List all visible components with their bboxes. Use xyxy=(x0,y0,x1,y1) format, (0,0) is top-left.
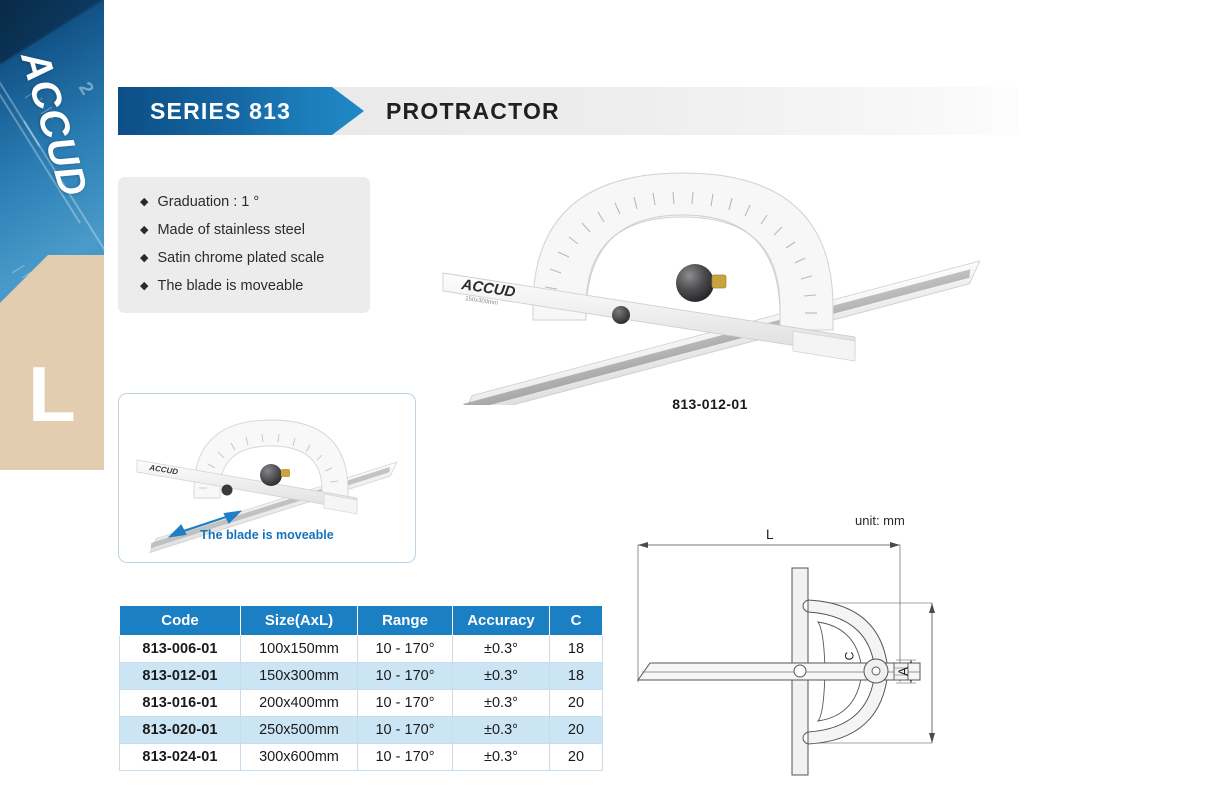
brass-screw xyxy=(712,275,726,288)
feature-item: ◆ The blade is moveable xyxy=(140,275,370,297)
rail-ruler-number: 2 xyxy=(73,79,97,100)
cell-range: 10 - 170° xyxy=(358,636,453,663)
table-row: 813-020-01 250x500mm 10 - 170° ±0.3° 20 xyxy=(120,717,603,744)
cell-accuracy: ±0.3° xyxy=(453,744,550,771)
cell-c: 20 xyxy=(550,744,603,771)
cell-c: 20 xyxy=(550,690,603,717)
diamond-bullet-icon: ◆ xyxy=(140,219,148,241)
table-row: 813-006-01 100x150mm 10 - 170° ±0.3° 18 xyxy=(120,636,603,663)
feature-label: Graduation : 1 ° xyxy=(157,191,259,213)
table-header-row: Code Size(AxL) Range Accuracy C xyxy=(120,606,603,636)
cell-range: 10 - 170° xyxy=(358,690,453,717)
cell-accuracy: ±0.3° xyxy=(453,717,550,744)
features-panel: ◆ Graduation : 1 ° ◆ Made of stainless s… xyxy=(118,177,370,313)
table-row: 813-012-01 150x300mm 10 - 170° ±0.3° 18 xyxy=(120,663,603,690)
cell-range: 10 - 170° xyxy=(358,663,453,690)
feature-label: Satin chrome plated scale xyxy=(157,247,324,269)
inset-photo-caption: The blade is moveable xyxy=(119,528,415,542)
column-header-accuracy: Accuracy xyxy=(453,606,550,636)
cell-size: 250x500mm xyxy=(241,717,358,744)
center-pivot xyxy=(612,306,630,324)
drawing-unit-label: unit: mm xyxy=(855,513,905,528)
drawing-stock-pivot xyxy=(794,665,806,677)
cell-accuracy: ±0.3° xyxy=(453,690,550,717)
cell-range: 10 - 170° xyxy=(358,744,453,771)
diamond-bullet-icon: ◆ xyxy=(140,191,148,213)
column-header-c: C xyxy=(550,606,603,636)
cell-size: 300x600mm xyxy=(241,744,358,771)
cell-c: 20 xyxy=(550,717,603,744)
cell-size: 100x150mm xyxy=(241,636,358,663)
feature-item: ◆ Satin chrome plated scale xyxy=(140,247,370,269)
product-photo-caption: 813-012-01 xyxy=(425,396,995,412)
product-photo-main: ACCUD 150x300mm xyxy=(425,155,995,405)
cell-size: 200x400mm xyxy=(241,690,358,717)
page-title: PROTRACTOR xyxy=(386,87,560,135)
cell-size: 150x300mm xyxy=(241,663,358,690)
column-header-code: Code xyxy=(120,606,241,636)
cell-code: 813-006-01 xyxy=(120,636,241,663)
cell-code: 813-020-01 xyxy=(120,717,241,744)
technical-drawing xyxy=(620,500,965,795)
table-row: 813-016-01 200x400mm 10 - 170° ±0.3° 20 xyxy=(120,690,603,717)
column-header-range: Range xyxy=(358,606,453,636)
cell-range: 10 - 170° xyxy=(358,717,453,744)
locking-knob xyxy=(676,264,714,302)
cell-code: 813-012-01 xyxy=(120,663,241,690)
column-header-size: Size(AxL) xyxy=(241,606,358,636)
cell-code: 813-024-01 xyxy=(120,744,241,771)
cell-accuracy: ±0.3° xyxy=(453,636,550,663)
feature-item: ◆ Graduation : 1 ° xyxy=(140,191,370,213)
inset-photo-box: ACCUD The blade is moveable xyxy=(118,393,416,563)
dimension-label-height: A xyxy=(896,667,911,676)
feature-label: Made of stainless steel xyxy=(157,219,305,241)
cell-code: 813-016-01 xyxy=(120,690,241,717)
drawing-knob-inner xyxy=(872,667,880,675)
table-row: 813-024-01 300x600mm 10 - 170° ±0.3° 20 xyxy=(120,744,603,771)
cell-accuracy: ±0.3° xyxy=(453,663,550,690)
diamond-bullet-icon: ◆ xyxy=(140,275,148,297)
series-label: SERIES 813 xyxy=(150,87,291,135)
left-decorative-rail: 2 2 1 ACCUD L xyxy=(0,0,104,800)
inset-center-pivot xyxy=(222,485,233,496)
sidebar-section-letter: L xyxy=(0,355,104,433)
diamond-bullet-icon: ◆ xyxy=(140,247,148,269)
feature-label: The blade is moveable xyxy=(157,275,303,297)
feature-item: ◆ Made of stainless steel xyxy=(140,219,370,241)
dimension-label-length: L xyxy=(766,527,774,542)
inset-brass-screw xyxy=(281,469,290,477)
specifications-table: Code Size(AxL) Range Accuracy C 813-006-… xyxy=(119,605,603,771)
dimension-lines xyxy=(638,542,935,743)
inset-locking-knob xyxy=(260,464,282,486)
series-banner: SERIES 813 PROTRACTOR xyxy=(118,87,1018,135)
cell-c: 18 xyxy=(550,663,603,690)
rail-ruler-tick xyxy=(12,265,24,273)
dimension-label-c: C xyxy=(842,652,856,661)
cell-c: 18 xyxy=(550,636,603,663)
